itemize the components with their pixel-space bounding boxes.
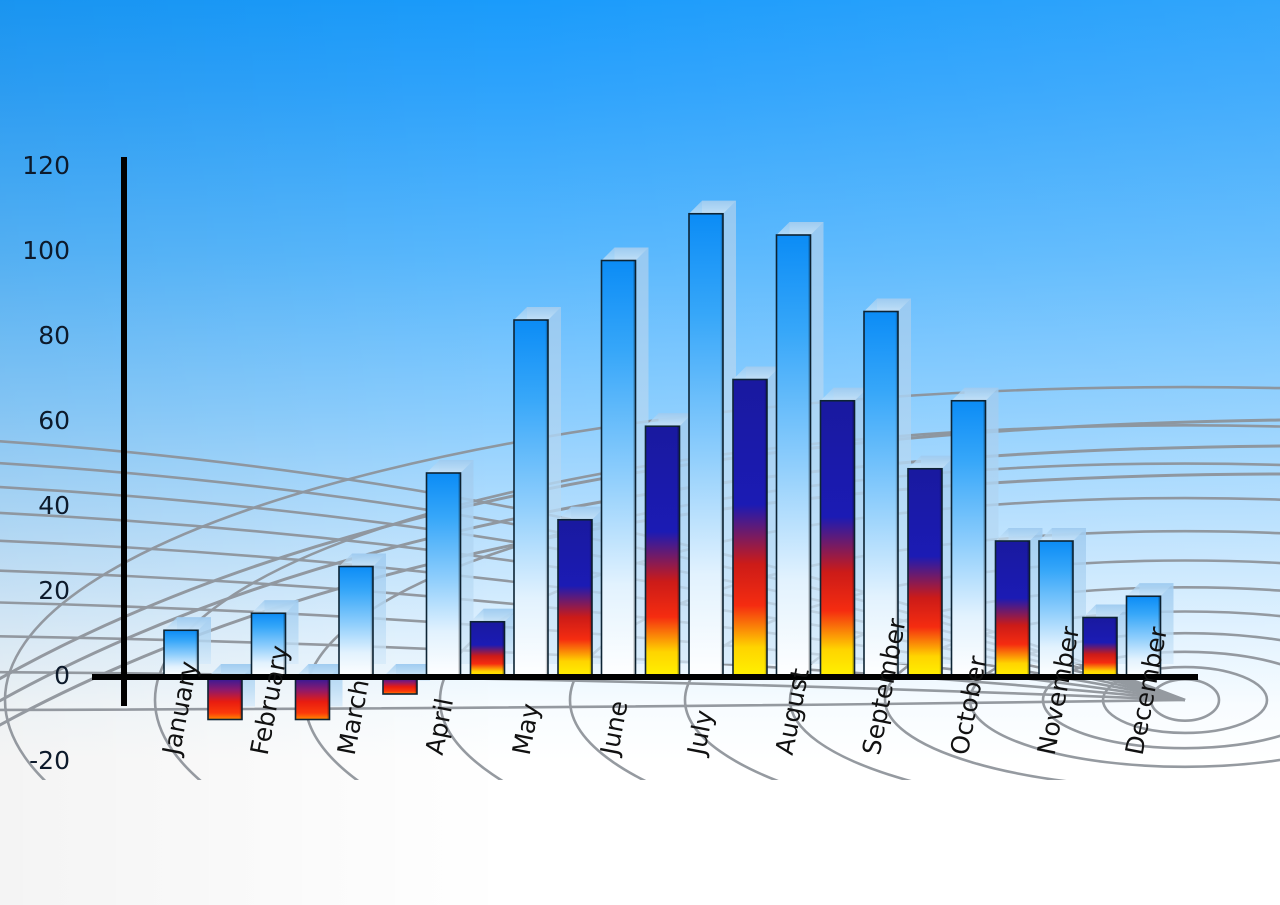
- plot-area: [0, 0, 1280, 905]
- y-tick-label: 40: [0, 491, 70, 520]
- chart-canvas: -20020406080100120 JanuaryFebruaryMarchA…: [0, 0, 1280, 905]
- y-tick-label: -20: [0, 746, 70, 775]
- y-tick-label: 0: [0, 661, 70, 690]
- y-tick-label: 100: [0, 236, 70, 265]
- y-tick-label: 60: [0, 406, 70, 435]
- y-tick-label: 80: [0, 321, 70, 350]
- y-tick-label: 120: [0, 151, 70, 180]
- y-tick-label: 20: [0, 576, 70, 605]
